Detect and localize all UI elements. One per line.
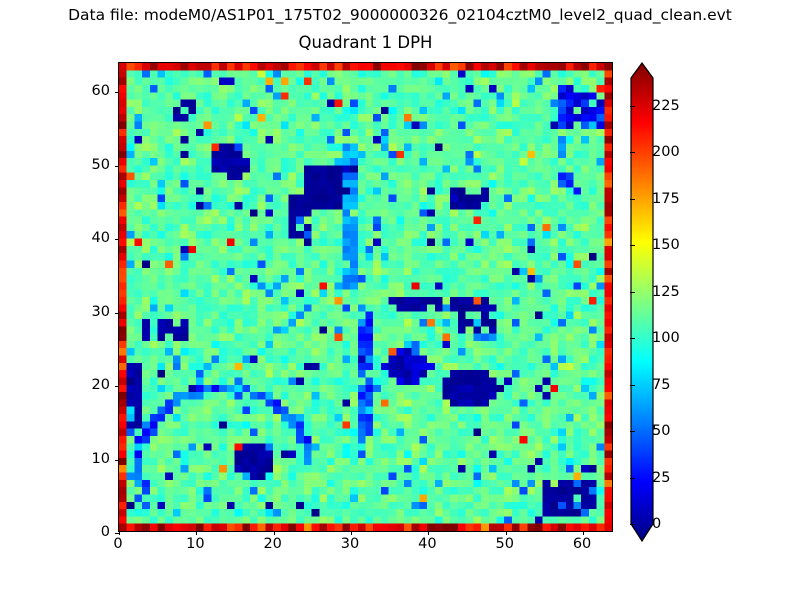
x-tick [119,531,120,535]
x-tick-label: 60 [573,536,591,552]
x-tick [196,531,197,535]
y-tick [115,460,119,461]
colorbar-tick [630,431,635,432]
colorbar-tick [630,199,635,200]
y-tick-label: 40 [0,230,110,246]
x-tick [274,531,275,535]
x-tick-label: 0 [113,536,122,552]
colorbar-tick-label: 100 [652,330,680,346]
x-tick-label: 40 [418,536,436,552]
colorbar-tick-label: 125 [652,284,680,300]
colorbar-tick [630,106,635,107]
colorbar-tick-label: 150 [652,237,680,253]
colorbar-tick-label: 225 [652,98,680,114]
y-tick [115,313,119,314]
axes-title: Quadrant 1 DPH [118,33,613,52]
colorbar-tick [630,292,635,293]
colorbar-tick [630,385,635,386]
y-tick [115,166,119,167]
x-tick [583,531,584,535]
y-tick [115,533,119,534]
y-tick [115,239,119,240]
x-tick-label: 30 [341,536,359,552]
x-tick [506,531,507,535]
x-tick-label: 20 [263,536,281,552]
heatmap-axes[interactable] [118,62,613,532]
colorbar-tick [630,245,635,246]
colorbar[interactable] [630,62,652,542]
y-tick-label: 30 [0,304,110,320]
y-tick [115,386,119,387]
colorbar-tick-label: 0 [652,516,661,532]
y-tick-label: 50 [0,157,110,173]
y-tick-label: 60 [0,83,110,99]
y-tick [115,92,119,93]
figure-canvas: Data file: modeM0/AS1P01_175T02_90000003… [0,0,800,600]
y-tick-label: 10 [0,451,110,467]
x-tick-label: 10 [186,536,204,552]
colorbar-tick-label: 50 [652,423,670,439]
colorbar-tick [630,152,635,153]
colorbar-tick [630,524,635,525]
figure-suptitle: Data file: modeM0/AS1P01_175T02_90000003… [0,6,800,24]
colorbar-gradient [630,62,654,542]
y-tick-label: 0 [0,524,110,540]
colorbar-tick-label: 75 [652,377,670,393]
heatmap-image[interactable] [119,63,612,531]
x-tick [428,531,429,535]
colorbar-tick-label: 25 [652,470,670,486]
colorbar-tick [630,478,635,479]
colorbar-tick-label: 175 [652,191,680,207]
colorbar-tick-label: 200 [652,144,680,160]
colorbar-tick [630,338,635,339]
x-tick-label: 50 [495,536,513,552]
x-tick [351,531,352,535]
y-tick-label: 20 [0,377,110,393]
